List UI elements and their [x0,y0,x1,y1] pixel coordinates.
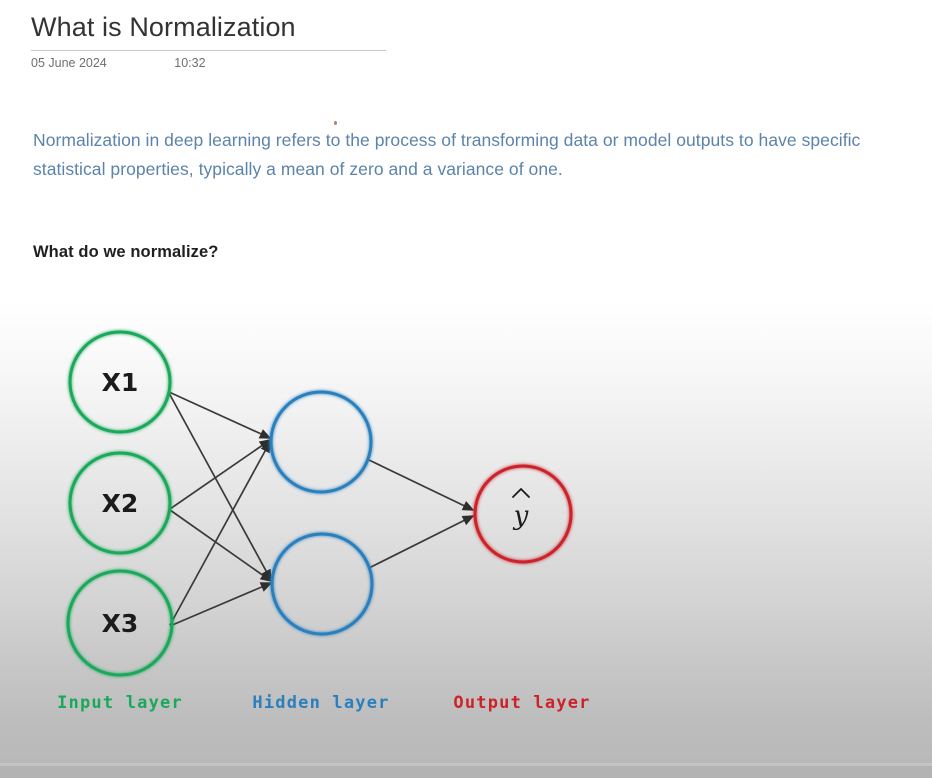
edge-x2-h1 [170,440,270,509]
node-x2-label: X2 [102,489,139,518]
edge-h1-y [369,460,473,510]
intro-text-part-1: Normalization in deep learning refers t [33,130,331,150]
svg-text:y: y [513,501,529,531]
meta-date: 05 June 2024 [31,56,107,70]
page-header: What is Normalization 05 June 2024 10:32 [31,10,891,70]
intro-paragraph: Normalization in deep learning refers to… [33,126,905,184]
question-heading: What do we normalize? [33,243,218,262]
caption-hidden-layer: Hidden layer [252,693,389,713]
node-hidden-1[interactable] [271,392,371,492]
edge-h2-y [369,516,473,568]
layer-hidden [271,392,372,634]
node-x1-label: X1 [102,368,139,397]
node-x3-label: X3 [102,609,139,638]
edge-x1-h2 [169,393,271,580]
page-bottom-band [0,766,932,778]
text-cursor-artifact: o [331,130,341,150]
node-hidden-2[interactable] [272,534,372,634]
intro-text-part-2: the process of transforming data or mode… [340,130,753,150]
edge-x2-h2 [170,510,271,581]
page-meta: 05 June 2024 10:32 [31,56,891,70]
edge-x1-h1 [169,392,270,438]
meta-time: 10:32 [174,56,205,70]
caption-input-layer: Input layer [57,693,183,713]
page-title: What is Normalization [31,10,891,44]
edge-x3-h2 [170,583,271,626]
edge-x3-h1 [170,442,270,625]
edge-group-input-to-hidden [169,392,271,626]
node-output-label: y [513,489,529,531]
caption-output-layer: Output layer [453,693,590,713]
neural-network-diagram: X1 X2 X3 y Input layer Hidden layer Outp… [0,290,932,730]
title-underline [31,50,386,51]
edge-group-hidden-to-output [369,460,473,568]
